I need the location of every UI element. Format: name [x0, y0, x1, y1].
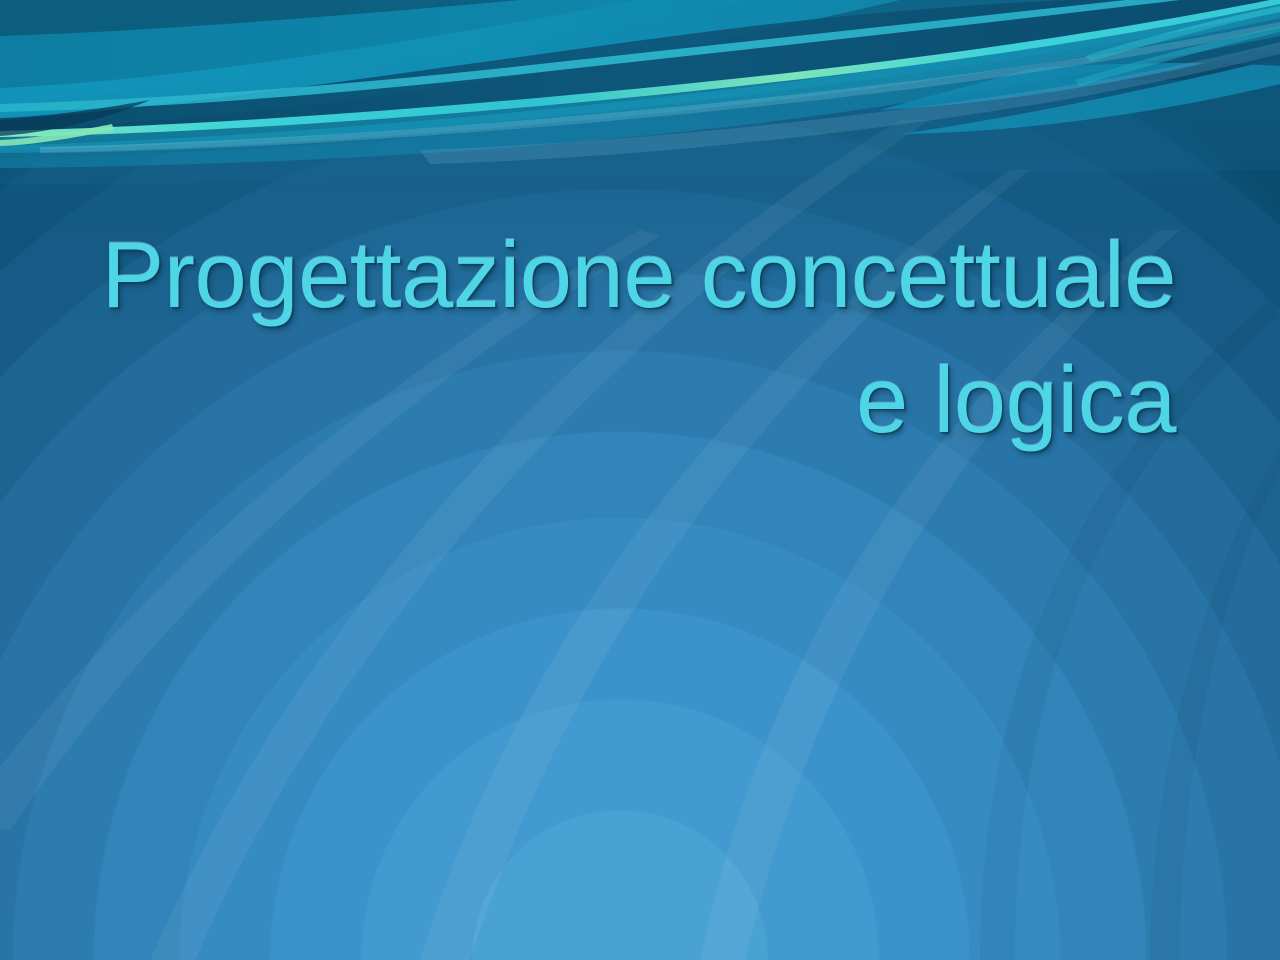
- title-line-1: Progettazione concettuale: [86, 212, 1176, 337]
- slide-canvas: Progettazione concettuale e logica: [0, 0, 1280, 960]
- slide-background-artwork: [0, 0, 1280, 960]
- slide-title[interactable]: Progettazione concettuale e logica: [86, 212, 1176, 462]
- top-banner-waves: [0, 0, 1280, 185]
- title-line-2: e logica: [86, 337, 1176, 462]
